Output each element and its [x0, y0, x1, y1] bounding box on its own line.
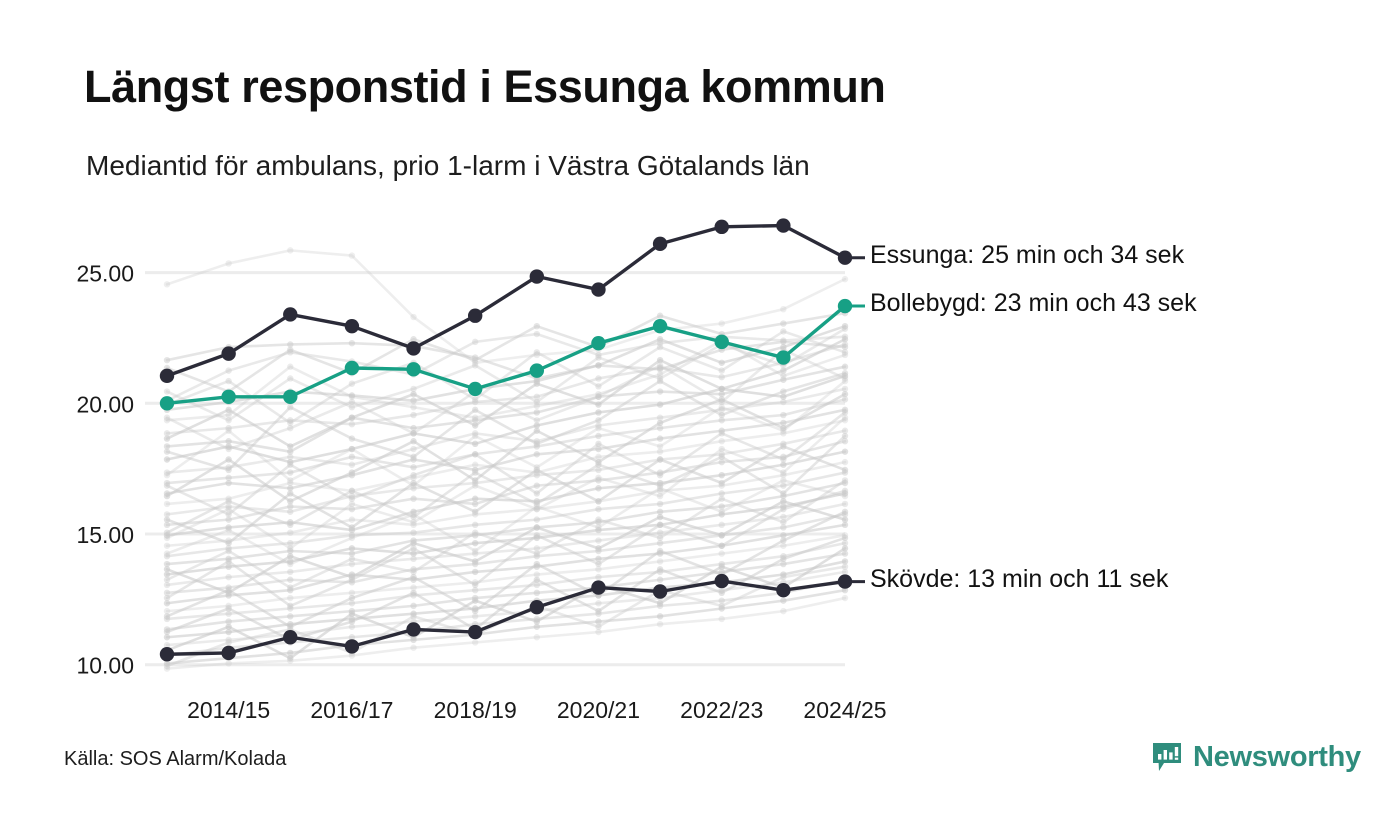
chart-page: Längst responstid i Essunga kommun Media… [0, 0, 1400, 840]
newsworthy-logo-text: Newsworthy [1193, 743, 1361, 772]
chart-container: 10.0015.0020.0025.00 2014/152016/172018/… [0, 0, 1400, 840]
annotation-leader-lines [848, 258, 865, 582]
svg-text:2022/23: 2022/23 [680, 697, 763, 723]
newsworthy-logo: Newsworthy [1150, 740, 1361, 774]
x-axis-tick-labels: 2014/152016/172018/192020/212022/232024/… [187, 697, 887, 723]
svg-text:2016/17: 2016/17 [310, 697, 393, 723]
line-chart-svg: 10.0015.0020.0025.00 2014/152016/172018/… [0, 0, 1400, 840]
source-note: Källa: SOS Alarm/Kolada [64, 748, 286, 771]
background-series-lines [164, 247, 848, 672]
svg-text:20.00: 20.00 [76, 391, 134, 417]
annotation-skovde: Skövde: 13 min och 11 sek [870, 565, 1168, 594]
svg-text:2024/25: 2024/25 [803, 697, 886, 723]
svg-text:2020/21: 2020/21 [557, 697, 640, 723]
svg-text:2014/15: 2014/15 [187, 697, 270, 723]
newsworthy-logo-icon [1150, 740, 1184, 774]
y-axis-tick-labels: 10.0015.0020.0025.00 [76, 261, 134, 679]
svg-text:15.00: 15.00 [76, 522, 134, 548]
svg-text:2018/19: 2018/19 [434, 697, 517, 723]
annotation-essunga: Essunga: 25 min och 34 sek [870, 241, 1184, 270]
annotation-bollebygd: Bollebygd: 23 min och 43 sek [870, 289, 1197, 318]
svg-text:25.00: 25.00 [76, 261, 134, 287]
svg-text:10.00: 10.00 [76, 653, 134, 679]
